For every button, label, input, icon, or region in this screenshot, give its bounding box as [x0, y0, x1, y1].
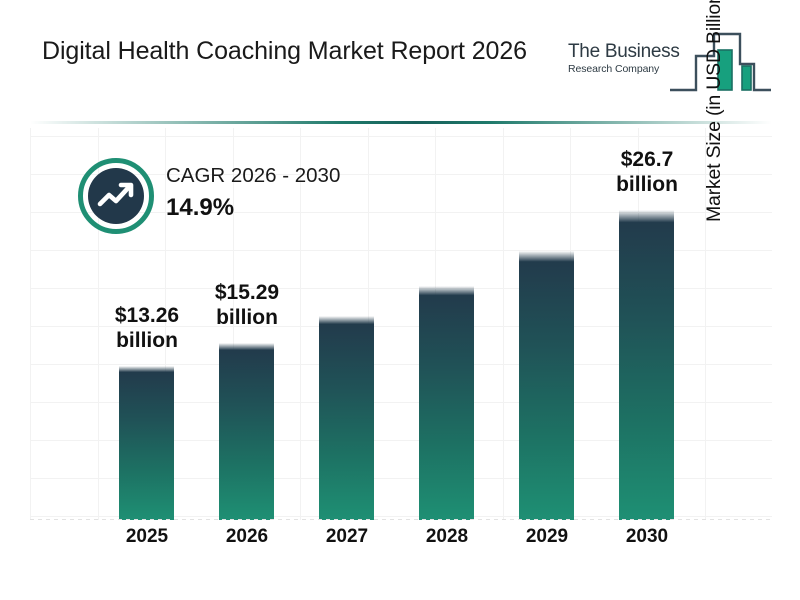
cagr-badge: CAGR 2026 - 2030 14.9%: [78, 158, 378, 234]
x-axis-tick-2027: 2027: [297, 526, 397, 548]
bar-value-amount: $13.26: [91, 303, 203, 329]
bar-group: [497, 128, 597, 520]
bar-value-unit: billion: [591, 172, 703, 198]
page-title: Digital Health Coaching Market Report 20…: [42, 34, 562, 70]
x-axis-tick-2029: 2029: [497, 526, 597, 548]
x-axis-tick-2025: 2025: [97, 526, 197, 548]
bar-value-label: $13.26billion: [91, 303, 203, 354]
cagr-text-block: CAGR 2026 - 2030 14.9%: [166, 162, 340, 223]
bar-value-label: $26.7billion: [591, 147, 703, 198]
bar-2026[interactable]: [219, 343, 274, 520]
bar-value-amount: $15.29: [191, 280, 303, 306]
x-axis-tick-2026: 2026: [197, 526, 297, 548]
header-divider: [30, 121, 772, 124]
chart-infographic: Digital Health Coaching Market Report 20…: [0, 0, 800, 600]
axis-baseline: [30, 519, 772, 520]
bar-group: [397, 128, 497, 520]
bar-2027[interactable]: [319, 316, 374, 520]
cagr-value: 14.9%: [166, 192, 340, 223]
x-axis-tick-2028: 2028: [397, 526, 497, 548]
x-axis-tick-2030: 2030: [597, 526, 697, 548]
bar-2025[interactable]: [119, 366, 174, 520]
cagr-period-label: CAGR 2026 - 2030: [166, 162, 340, 190]
x-axis-labels: 202520262027202820292030: [30, 526, 772, 560]
bar-group: $26.7billion: [597, 128, 697, 520]
bar-value-label: $15.29billion: [191, 280, 303, 331]
bar-value-amount: $26.7: [591, 147, 703, 173]
bar-value-unit: billion: [91, 328, 203, 354]
bar-2028[interactable]: [419, 286, 474, 520]
trending-up-icon: [78, 158, 154, 234]
y-axis-title: Market Size (in USD Billion): [703, 0, 726, 222]
company-logo: The Business Research Company: [568, 28, 773, 100]
bar-2029[interactable]: [519, 251, 574, 520]
bar-2030[interactable]: [619, 210, 674, 520]
header: Digital Health Coaching Market Report 20…: [0, 0, 800, 118]
bar-value-unit: billion: [191, 305, 303, 331]
